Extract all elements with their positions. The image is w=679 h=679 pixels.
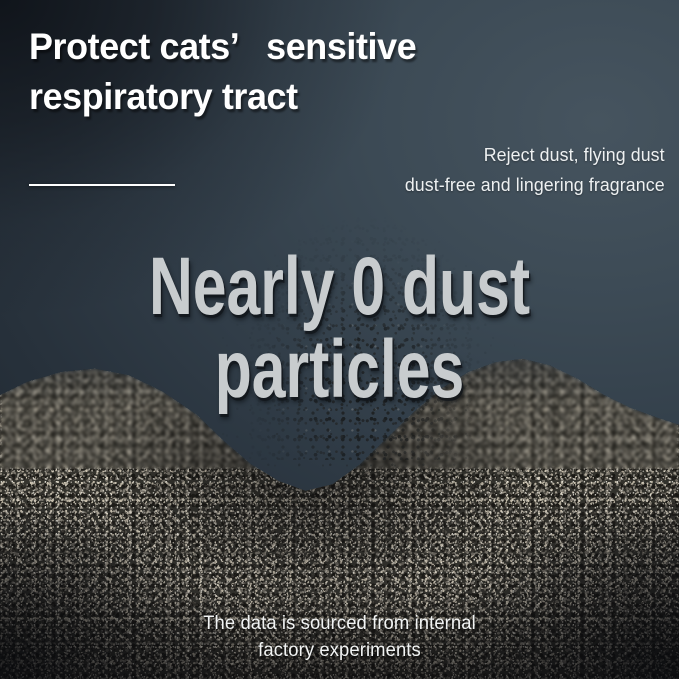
headline-line-1: Protect cats’ sensitive [29, 26, 416, 67]
subtitle-line-1: Reject dust, flying dust [405, 140, 665, 170]
footer-disclaimer: The data is sourced from internal factor… [10, 611, 669, 665]
subtitle-line-2: dust-free and lingering fragrance [405, 170, 665, 200]
caption-line-1: The data is sourced from internal [10, 611, 669, 638]
subtitle-block: Reject dust, flying dust dust-free and l… [405, 140, 665, 200]
product-advertisement-poster: Protect cats’ sensitive respiratory trac… [0, 0, 679, 679]
caption-line-2: factory experiments [10, 638, 669, 665]
page-title: Protect cats’ sensitive respiratory trac… [29, 22, 630, 121]
headline-line-2: respiratory tract [29, 76, 298, 117]
header-divider-rule [29, 184, 175, 186]
